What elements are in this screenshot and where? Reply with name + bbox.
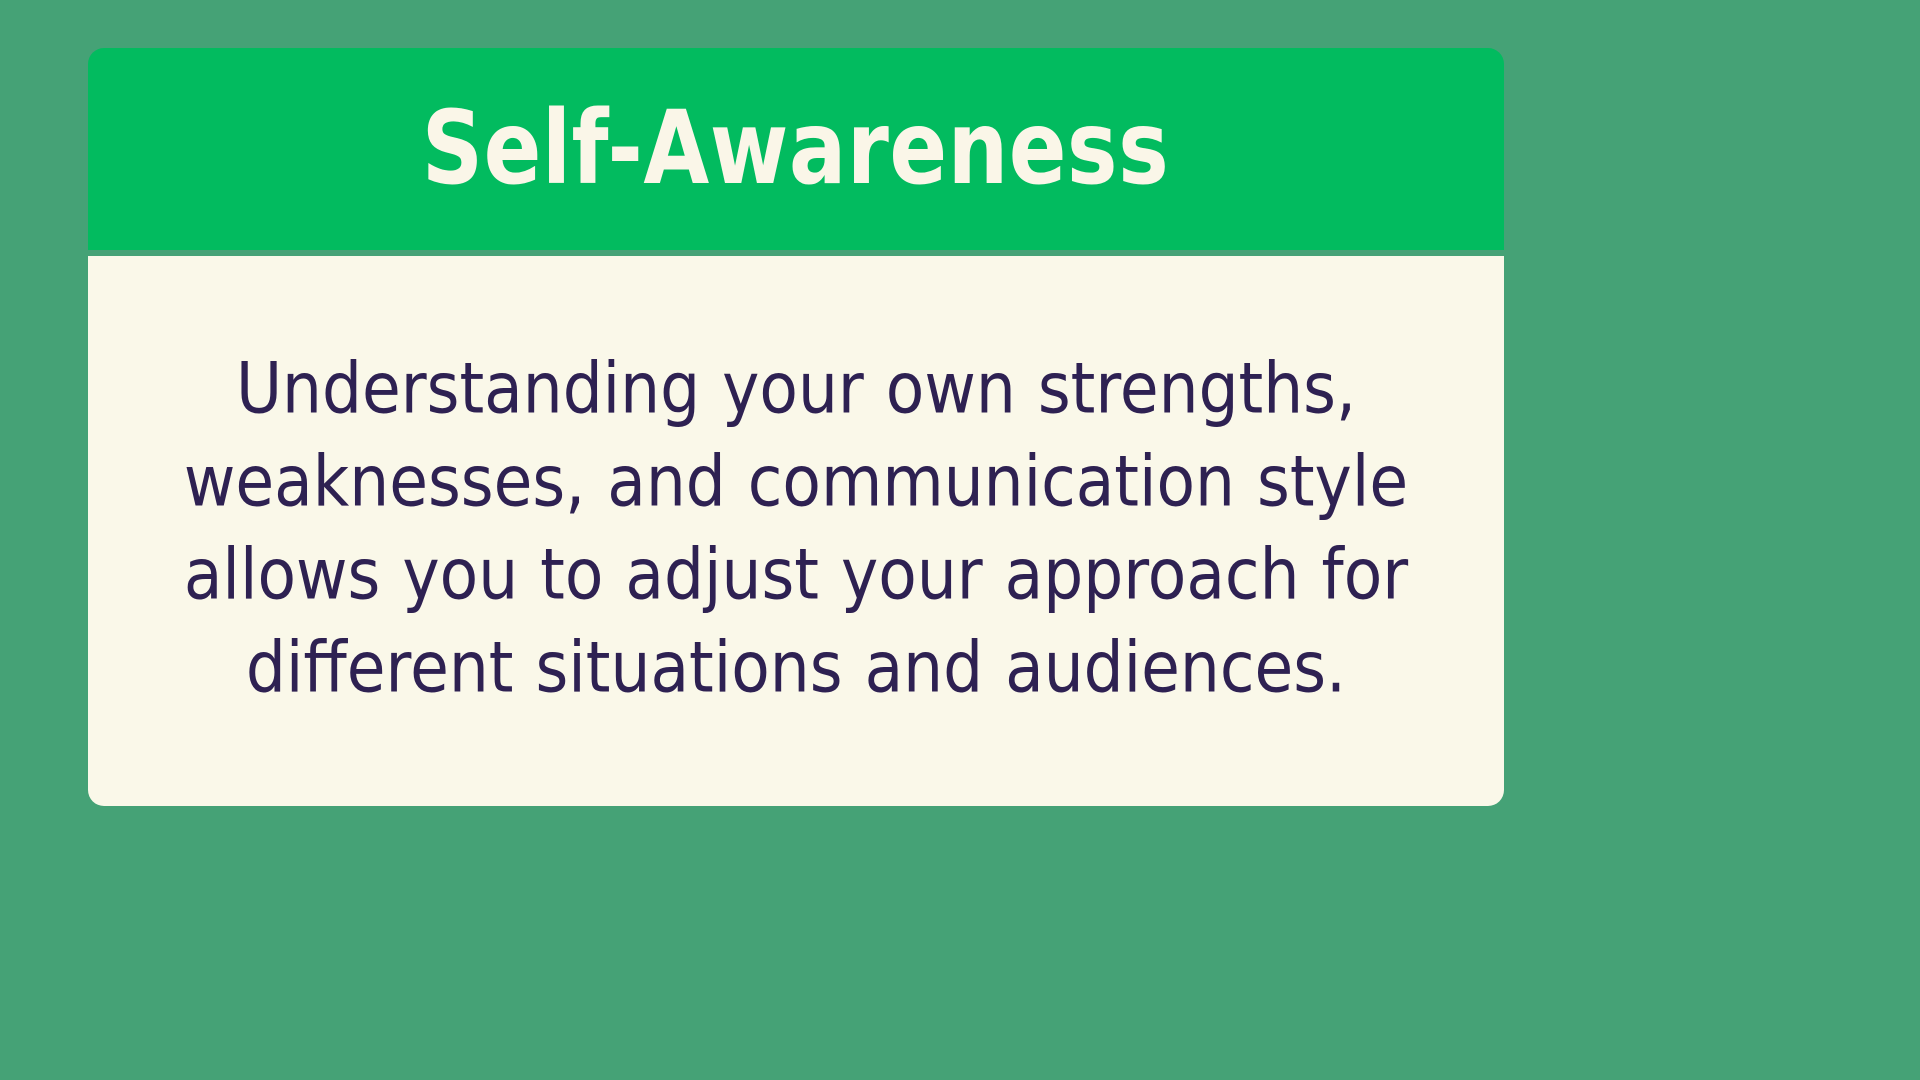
card-body-panel: Understanding your own strengths, weakne…: [88, 256, 1504, 806]
concept-card: Self-Awareness Understanding your own st…: [88, 48, 1504, 806]
card-title: Self-Awareness: [422, 98, 1170, 199]
card-header-band: Self-Awareness: [88, 48, 1504, 250]
card-description-text: Understanding your own strengths, weakne…: [132, 342, 1460, 715]
slide-canvas: Self-Awareness Understanding your own st…: [0, 0, 1920, 1080]
